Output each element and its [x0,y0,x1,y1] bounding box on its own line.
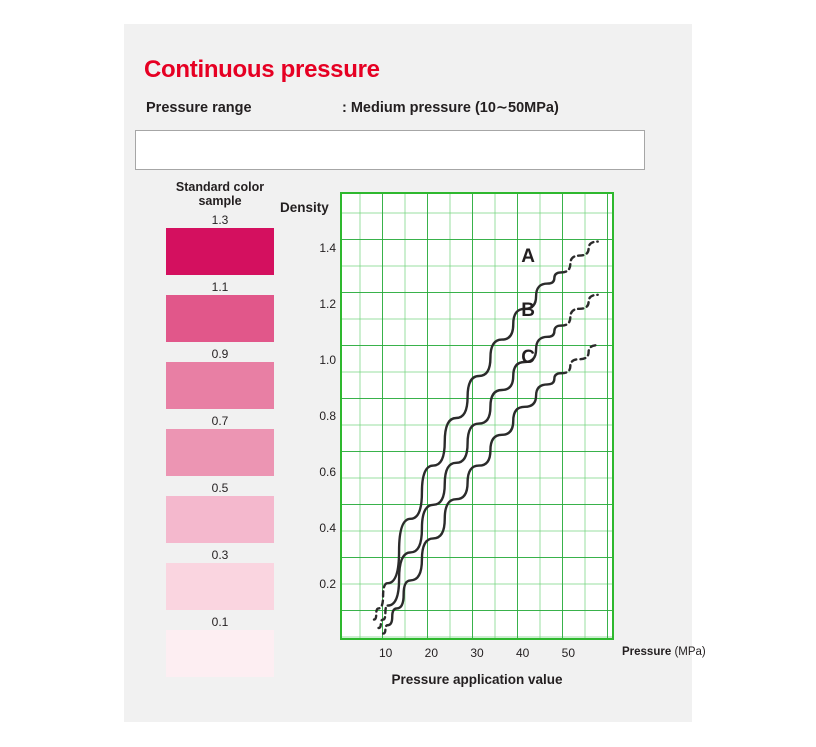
heading-line-2: sample [154,194,286,208]
curve-label-a: A [521,246,535,268]
pressure-range-label: Pressure range [146,100,252,116]
curve-label-c: C [521,347,535,369]
x-axis-unit-bold: Pressure [622,646,671,658]
swatch-color-box[interactable] [166,630,274,677]
x-axis-tick-label: 20 [411,646,451,660]
y-axis-tick-label: 1.0 [276,353,336,367]
y-axis-tick-label: 0.2 [276,577,336,591]
swatch-group: 0.5 [154,480,286,543]
plot-grid-area [340,192,614,640]
pressure-range-row: Pressure range : Medium pressure (10∼50M… [146,100,666,122]
x-axis-tick-label: 40 [503,646,543,660]
swatch-group: 0.9 [154,346,286,409]
y-axis-tick-label: 0.8 [276,409,336,423]
y-axis-tick-label: 1.4 [276,241,336,255]
content-panel: Continuous pressure Pressure range : Med… [124,24,692,722]
x-axis-ticks: 1020304050 [340,646,620,664]
y-axis-ticks: 0.20.40.60.81.01.21.4 [274,192,336,640]
x-axis-tick-label: 30 [457,646,497,660]
swatch-value-label: 0.3 [154,547,286,563]
density-vs-pressure-chart: Density 0.20.40.60.81.01.21.4 1020304050… [274,180,684,710]
curve-b-dashed [561,295,598,326]
swatch-group: 0.1 [154,614,286,677]
swatch-group: 1.1 [154,279,286,342]
curve-c-solid [388,373,562,625]
y-axis-tick-label: 0.4 [276,521,336,535]
swatch-value-label: 0.5 [154,480,286,496]
curve-a-dashed [374,583,388,619]
x-axis-tick-label: 50 [548,646,588,660]
x-axis-unit-paren: (MPa) [674,646,705,658]
heading-line-1: Standard color [154,180,286,194]
curves-svg [342,194,616,642]
swatch-value-label: 0.9 [154,346,286,362]
note-input-box[interactable] [135,130,645,170]
page-root: { "page": { "title": "Continuous pressur… [0,0,816,747]
swatch-color-box[interactable] [166,429,274,476]
swatch-value-label: 0.1 [154,614,286,630]
swatch-list: 1.31.10.90.70.50.30.1 [154,212,286,677]
swatch-value-label: 0.7 [154,413,286,429]
x-axis-title: Pressure application value [340,672,614,687]
standard-color-sample-heading: Standard color sample [154,180,286,208]
swatch-color-box[interactable] [166,563,274,610]
y-axis-tick-label: 1.2 [276,297,336,311]
y-axis-tick-label: 0.6 [276,465,336,479]
pressure-range-value: : Medium pressure (10∼50MPa) [342,100,559,116]
swatch-value-label: 1.1 [154,279,286,295]
standard-color-sample-column: Standard color sample 1.31.10.90.70.50.3… [154,180,286,677]
swatch-color-box[interactable] [166,295,274,342]
x-axis-unit-label: Pressure (MPa) [622,646,706,658]
swatch-group: 0.7 [154,413,286,476]
curve-c-dashed [383,625,388,633]
swatch-color-box[interactable] [166,228,274,275]
curve-a-dashed [561,242,598,273]
page-title: Continuous pressure [144,56,380,84]
swatch-value-label: 1.3 [154,212,286,228]
curve-c-dashed [561,345,598,373]
curve-a-solid [388,272,562,583]
curve-label-b: B [521,300,535,322]
swatch-group: 0.3 [154,547,286,610]
x-axis-tick-label: 10 [366,646,406,660]
swatch-color-box[interactable] [166,362,274,409]
swatch-group: 1.3 [154,212,286,275]
swatch-color-box[interactable] [166,496,274,543]
